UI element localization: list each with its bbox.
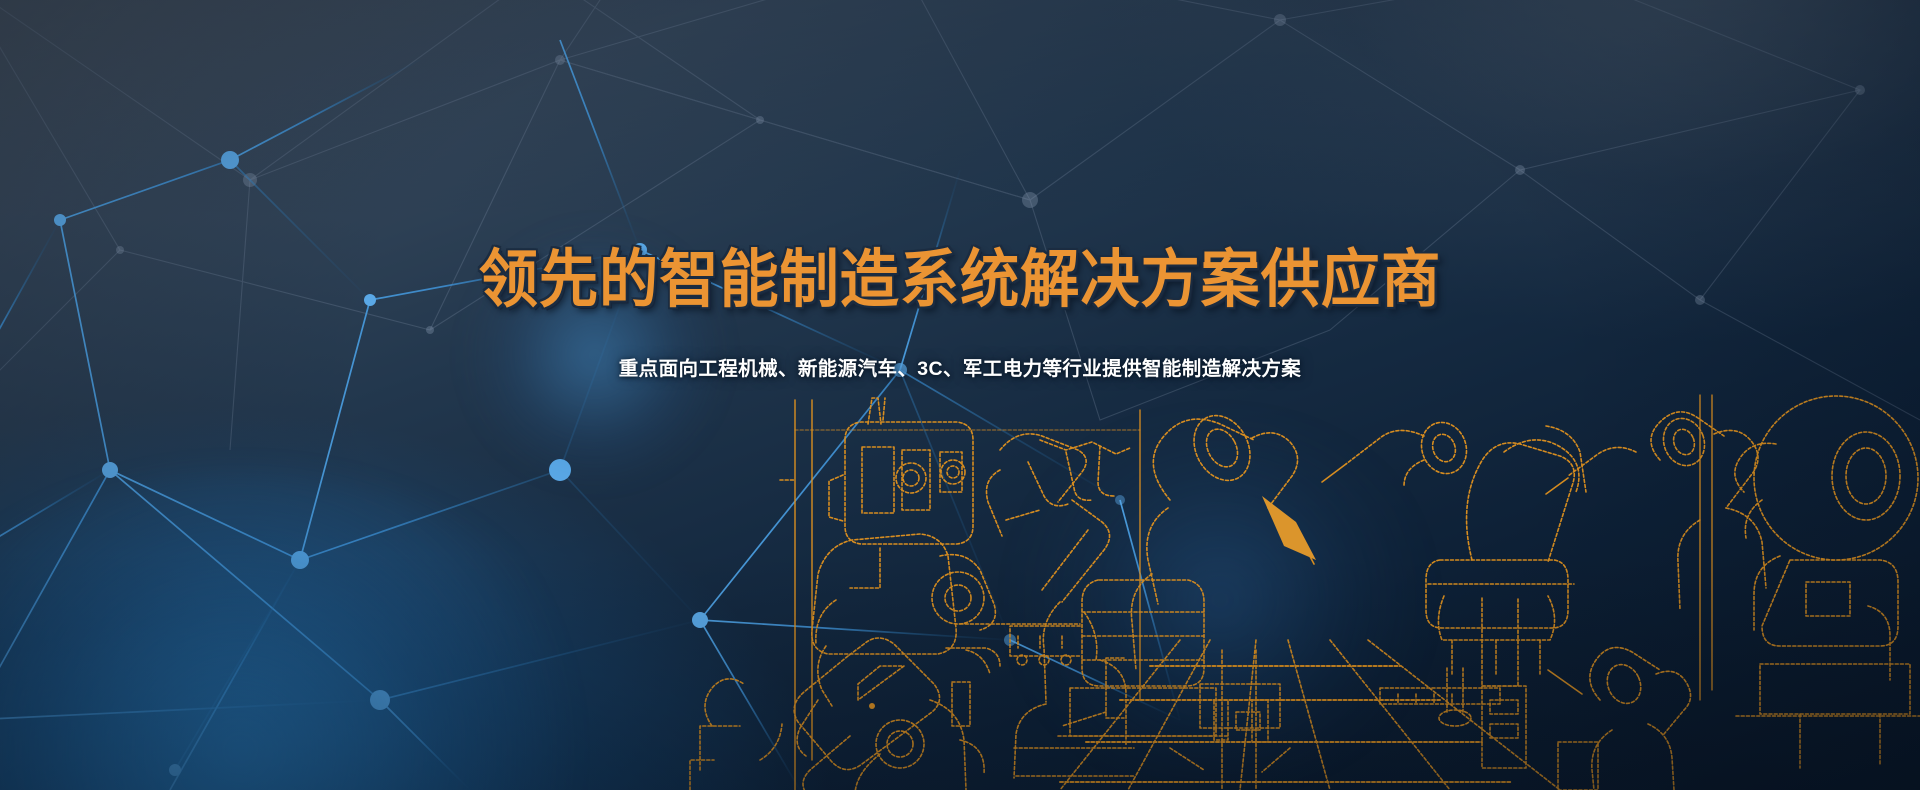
hero-subtitle: 重点面向工程机械、新能源汽车、3C、军工电力等行业提供智能制造解决方案 — [0, 356, 1920, 383]
polygon-network-dim-layer — [0, 0, 1920, 790]
center-blue-glow — [1010, 430, 1430, 770]
polygon-network-bright-layer — [0, 0, 1920, 790]
bottom-left-blue-glow — [0, 470, 620, 790]
robotic-arm-line-art — [0, 0, 1920, 790]
hero-banner: 领先的智能制造系统解决方案供应商 重点面向工程机械、新能源汽车、3C、军工电力等… — [0, 0, 1920, 790]
vignette-overlay — [0, 0, 1920, 790]
page-title: 领先的智能制造系统解决方案供应商 — [479, 248, 1442, 312]
hero-copy-block: 领先的智能制造系统解决方案供应商 重点面向工程机械、新能源汽车、3C、军工电力等… — [0, 248, 1920, 384]
